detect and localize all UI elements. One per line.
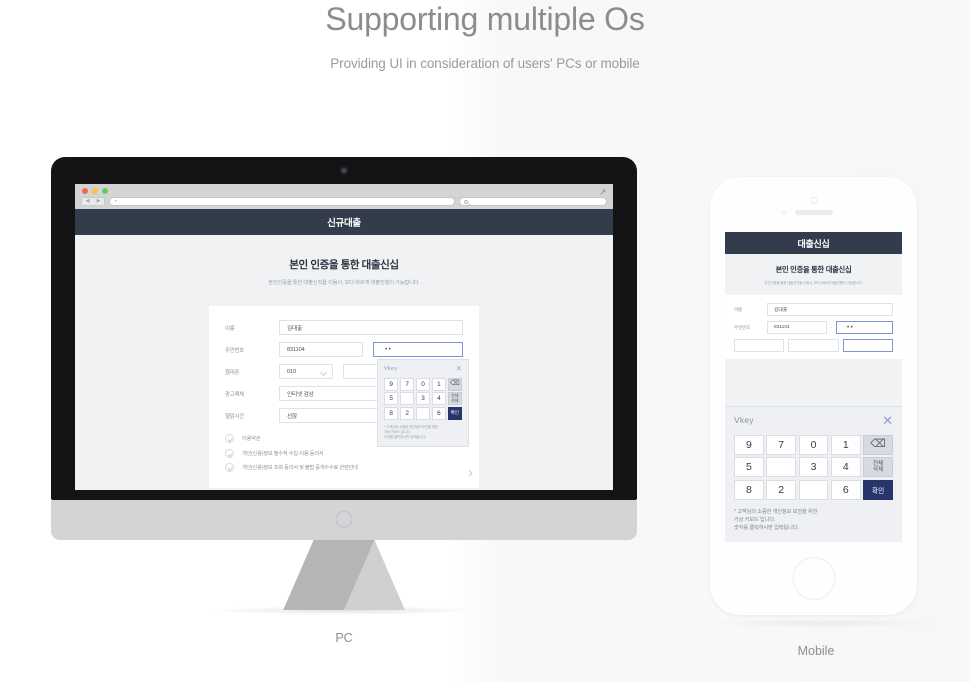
vkey-header: Vkey ✕ bbox=[384, 365, 462, 373]
mobile-phone-last-input[interactable] bbox=[843, 339, 893, 352]
browser-toolbar: ◀ ▶ + bbox=[81, 197, 607, 206]
mobile-name-label: 이름 bbox=[734, 307, 767, 313]
term-label: 이용약관 bbox=[242, 435, 260, 442]
mobile-label: Mobile bbox=[710, 644, 922, 658]
page-subtitle: Providing UI in consideration of users' … bbox=[0, 56, 970, 71]
confirm-button[interactable]: 확인 bbox=[863, 480, 893, 500]
monitor-logo bbox=[336, 511, 353, 528]
mobile-vkey-keypad: 9 7 0 1 ⌫ 5 3 4 전체 삭제 bbox=[734, 435, 893, 500]
check-circle-icon[interactable] bbox=[225, 449, 234, 458]
clear-all-key[interactable]: 전체 삭제 bbox=[863, 457, 893, 477]
mobile-loan-form: 이름 김대출 주민번호 831104 - •• bbox=[725, 295, 902, 359]
resident-id-label: 주민번호 bbox=[225, 346, 279, 354]
mobile-vkey-title: Vkey bbox=[734, 415, 754, 425]
browser-search-input[interactable] bbox=[459, 197, 607, 206]
mobile-mockup: 대출신십 본인 인증을 통한 대출신십 본인인증을 통한 대출신직을 이용시, … bbox=[710, 177, 922, 658]
expand-icon[interactable]: ↗ bbox=[599, 188, 607, 196]
close-icon[interactable]: ✕ bbox=[882, 414, 893, 427]
key-2[interactable]: 2 bbox=[400, 407, 414, 420]
vkey-note-line1: * 고객님의 소중한 개인정보 보안을 위한 bbox=[734, 508, 893, 516]
ad-medium-label: 광고매체 bbox=[225, 390, 279, 398]
phone-prefix-select[interactable]: 010 bbox=[279, 364, 333, 379]
key-4[interactable]: 4 bbox=[831, 457, 861, 477]
key-blank[interactable] bbox=[400, 392, 414, 405]
separator-dash: - bbox=[363, 347, 373, 353]
key-6[interactable]: 6 bbox=[831, 480, 861, 500]
key-4[interactable]: 4 bbox=[432, 392, 446, 405]
webcam-icon bbox=[342, 168, 347, 173]
backspace-key[interactable]: ⌫ bbox=[863, 435, 893, 455]
back-icon[interactable]: ◀ bbox=[86, 199, 90, 204]
minimize-window-icon[interactable] bbox=[92, 188, 98, 194]
term-label: 개인(신용)정보 조회 동의서 및 불법 중개수수료 관련안네 bbox=[242, 464, 358, 471]
phone-screen: 대출신십 본인 인증을 통한 대출신십 본인인증을 통한 대출신직을 이용시, … bbox=[725, 232, 902, 542]
backspace-icon: ⌫ bbox=[870, 438, 886, 451]
address-bar[interactable]: + bbox=[109, 197, 455, 206]
key-6[interactable]: 6 bbox=[432, 407, 446, 420]
form-description: 본인인증을 통한 대출신직을 이용시, 보다 바르게 대출진행이 가능합니다. bbox=[75, 278, 613, 286]
clear-all-line2: 삭제 bbox=[451, 399, 459, 404]
vkey-panel: Vkey ✕ 9 7 0 1 ⌫ 5 bbox=[377, 359, 469, 447]
plus-icon: + bbox=[114, 199, 118, 205]
maximize-window-icon[interactable] bbox=[102, 188, 108, 194]
mobile-resident-id-front-input[interactable]: 831104 bbox=[767, 321, 827, 334]
key-8[interactable]: 8 bbox=[734, 480, 764, 500]
list-item[interactable]: 개인(신용)정보 조회 동의서 및 불법 중개수수료 관련안네 bbox=[225, 463, 463, 472]
key-2[interactable]: 2 bbox=[766, 480, 796, 500]
chevron-down-icon bbox=[320, 370, 327, 374]
pc-label: PC bbox=[51, 631, 637, 645]
front-camera-icon bbox=[810, 197, 817, 204]
key-blank[interactable] bbox=[766, 457, 796, 477]
term-label: 개인(신용)정보 필수적 수집·이용 동의서 bbox=[242, 450, 323, 457]
key-0[interactable]: 0 bbox=[416, 378, 430, 391]
mobile-title-box: 본인 인증을 통한 대출신십 본인인증을 통한 대출신직을 이용시, 보다 바르… bbox=[725, 254, 902, 295]
mobile-phone-prefix-select[interactable] bbox=[734, 339, 784, 352]
vkey-note: * 고객님의 소중한 개인정보 보안을 위한 가상 키보드 입니다. 숫자를 클… bbox=[384, 425, 462, 440]
close-icon[interactable]: ✕ bbox=[456, 365, 462, 373]
phone-shadow bbox=[710, 618, 940, 628]
mobile-resident-id-back-input[interactable]: •• bbox=[836, 321, 893, 334]
mobile-separator-dash: - bbox=[827, 325, 836, 330]
mobile-masked-value: •• bbox=[843, 325, 854, 331]
page-title: Supporting multiple Os bbox=[0, 0, 970, 38]
mobile-header-title: 대출신십 bbox=[798, 237, 830, 250]
phone-prefix-value: 010 bbox=[287, 369, 296, 375]
name-label: 이름 bbox=[225, 324, 279, 332]
home-button[interactable] bbox=[792, 557, 835, 600]
vkey-note-line2: 가상 키보드 입니다. bbox=[734, 516, 893, 524]
mobile-phone-mid-input[interactable] bbox=[788, 339, 838, 352]
close-window-icon[interactable] bbox=[82, 188, 88, 194]
form-heading: 본인 인증을 통한 대출신십 bbox=[75, 257, 613, 272]
hero-section: Supporting multiple Os Providing UI in c… bbox=[0, 0, 970, 71]
key-5[interactable]: 5 bbox=[384, 392, 398, 405]
phone-body: 대출신십 본인 인증을 통한 대출신십 본인인증을 통한 대출신직을 이용시, … bbox=[710, 177, 917, 615]
vkey-keypad: 9 7 0 1 ⌫ 5 3 4 bbox=[384, 378, 462, 420]
loan-form-card: 이름 김대출 주민번호 831104 - •• bbox=[209, 306, 479, 488]
check-circle-icon[interactable] bbox=[225, 463, 234, 472]
key-8[interactable]: 8 bbox=[384, 407, 398, 420]
list-item[interactable]: 개인(신용)정보 필수적 수집·이용 동의서 bbox=[225, 449, 463, 458]
mobile-vkey-panel: Vkey ✕ 9 7 0 1 ⌫ 5 3 4 bbox=[725, 406, 902, 542]
site-body: 본인 인증을 통한 대출신십 본인인증을 통한 대출신직을 이용시, 보다 바르… bbox=[75, 235, 613, 490]
form-row-resident-id: 주민번호 831104 - •• bbox=[225, 342, 463, 357]
monitor-bezel: ↗ ◀ ▶ + bbox=[51, 157, 637, 500]
vkey-note-line3: 숫자를 클릭하시면 입력됩니다. bbox=[734, 524, 893, 532]
page-root: Supporting multiple Os Providing UI in c… bbox=[0, 0, 970, 682]
masked-value: •• bbox=[381, 347, 392, 353]
clear-all-line2: 삭제 bbox=[873, 467, 883, 474]
key-5[interactable]: 5 bbox=[734, 457, 764, 477]
key-1[interactable]: 1 bbox=[831, 435, 861, 455]
traffic-lights bbox=[82, 188, 108, 194]
name-input[interactable]: 김대출 bbox=[279, 320, 463, 335]
key-7[interactable]: 7 bbox=[766, 435, 796, 455]
forward-icon[interactable]: ▶ bbox=[97, 199, 101, 204]
chevron-right-icon[interactable]: › bbox=[468, 465, 473, 480]
browser-chrome: ↗ ◀ ▶ + bbox=[75, 184, 613, 209]
confirm-button[interactable]: 확인 bbox=[448, 407, 462, 420]
backspace-key[interactable]: ⌫ bbox=[448, 378, 462, 391]
key-9[interactable]: 9 bbox=[734, 435, 764, 455]
monitor-base bbox=[51, 500, 637, 540]
mobile-site-header: 대출신십 bbox=[725, 232, 902, 254]
mobile-vkey-header: Vkey ✕ bbox=[734, 414, 893, 427]
mobile-form-description: 본인인증을 통한 대출신직을 이용시, 보다 바르게 대출진행이 가능합니다. bbox=[731, 280, 896, 285]
proximity-sensor-icon bbox=[782, 211, 786, 215]
key-1[interactable]: 1 bbox=[432, 378, 446, 391]
mobile-form-row-name: 이름 김대출 bbox=[734, 303, 893, 316]
site-header: 신규대출 bbox=[75, 209, 613, 235]
vkey-title: Vkey bbox=[384, 366, 397, 372]
site-header-title: 신규대출 bbox=[327, 215, 361, 229]
mobile-name-input[interactable]: 김대출 bbox=[767, 303, 893, 316]
mobile-resident-id-label: 주민번호 bbox=[734, 325, 767, 331]
key-7[interactable]: 7 bbox=[400, 378, 414, 391]
nav-buttons[interactable]: ◀ ▶ bbox=[81, 197, 105, 206]
key-3[interactable]: 3 bbox=[416, 392, 430, 405]
earpiece-speaker-icon bbox=[795, 210, 833, 215]
phone-label: 훴대폰 bbox=[225, 368, 279, 376]
clear-all-key[interactable]: 전체 삭제 bbox=[448, 392, 462, 405]
pc-mockup: ↗ ◀ ▶ + bbox=[51, 157, 637, 645]
mobile-vkey-note: * 고객님의 소중한 개인정보 보안을 위한 가상 키보드 입니다. 숫자를 클… bbox=[734, 508, 893, 532]
monitor-screen: ↗ ◀ ▶ + bbox=[75, 184, 613, 490]
resident-id-back-input[interactable]: •• bbox=[373, 342, 463, 357]
mobile-form-heading: 본인 인증을 통한 대출신십 bbox=[731, 265, 896, 275]
form-row-name: 이름 김대출 bbox=[225, 320, 463, 335]
resident-id-front-input[interactable]: 831104 bbox=[279, 342, 363, 357]
mobile-form-row-phone bbox=[734, 339, 893, 352]
key-9[interactable]: 9 bbox=[384, 378, 398, 391]
key-0[interactable]: 0 bbox=[799, 435, 829, 455]
vkey-note-line3: 숫자를 클릭하시면 입력됩니다. bbox=[384, 435, 462, 440]
search-icon bbox=[464, 200, 468, 204]
key-blank[interactable] bbox=[416, 407, 430, 420]
monitor-stand bbox=[264, 540, 424, 610]
mobile-form-row-resident-id: 주민번호 831104 - •• bbox=[734, 321, 893, 334]
check-circle-icon[interactable] bbox=[225, 434, 234, 443]
desired-time-label: 헬맑시간 bbox=[225, 412, 279, 420]
key-3[interactable]: 3 bbox=[799, 457, 829, 477]
backspace-icon: ⌫ bbox=[450, 380, 460, 388]
key-blank[interactable] bbox=[799, 480, 829, 500]
